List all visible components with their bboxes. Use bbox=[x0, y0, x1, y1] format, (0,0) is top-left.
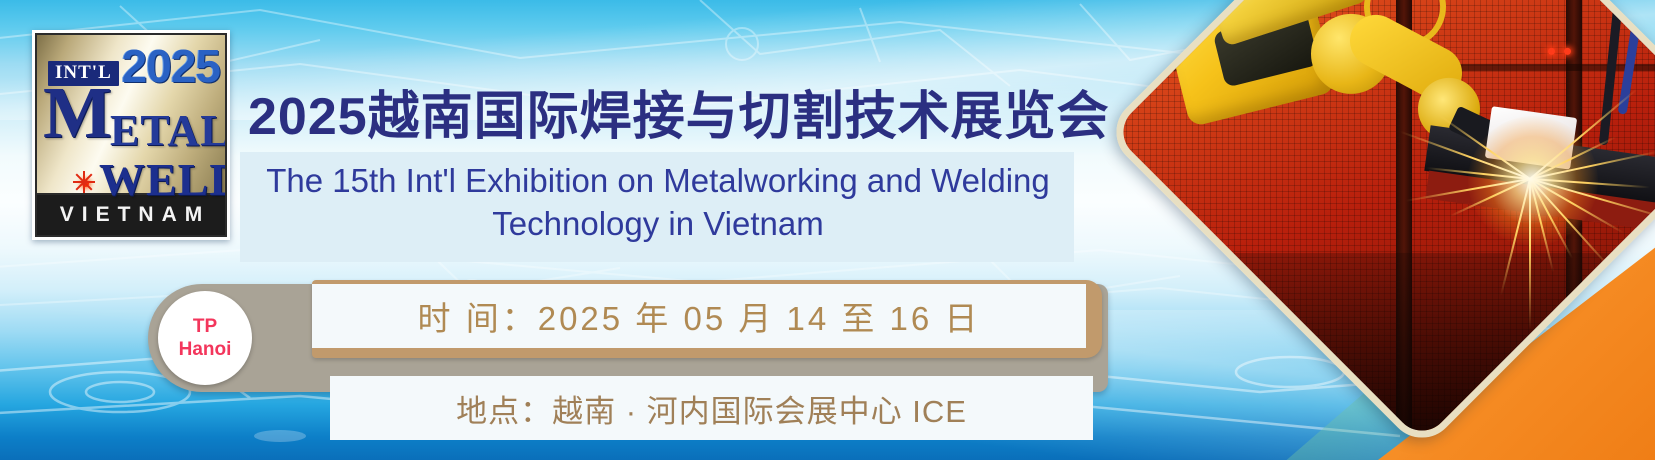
badge-line-2: Hanoi bbox=[179, 338, 232, 361]
logo-letter-m: M bbox=[43, 82, 112, 144]
metal-weld-vietnam-logo: 2025 INT'L M ETAL WELD VIETNAM bbox=[32, 30, 230, 240]
logo-country-label: VIETNAM bbox=[52, 203, 211, 227]
event-venue-text: 地点：越南 · 河内国际会展中心 ICE bbox=[456, 386, 967, 431]
date-frame: 时 间：2025 年 05 月 14 至 16 日 bbox=[312, 280, 1102, 358]
logo-word-metal: ETAL bbox=[110, 105, 227, 156]
badge-line-1: TP bbox=[193, 315, 217, 338]
tp-hanoi-badge: TP Hanoi bbox=[158, 291, 252, 385]
venue-box: 地点：越南 · 河内国际会展中心 ICE bbox=[330, 376, 1093, 440]
welding-spark-icon bbox=[70, 168, 98, 196]
page-title-english: The 15th Int'l Exhibition on Metalworkin… bbox=[248, 160, 1068, 246]
date-box: 时 间：2025 年 05 月 14 至 16 日 bbox=[312, 284, 1086, 348]
logo-word-weld: WELD bbox=[99, 153, 227, 206]
page-title-chinese: 2025越南国际焊接与切割技术展览会 bbox=[248, 74, 1078, 149]
event-date-text: 时 间：2025 年 05 月 14 至 16 日 bbox=[418, 292, 981, 340]
exhibition-banner: 2025 INT'L M ETAL WELD VIETNAM 2025越南国际焊… bbox=[0, 0, 1655, 460]
logo-year: 2025 bbox=[122, 39, 220, 93]
